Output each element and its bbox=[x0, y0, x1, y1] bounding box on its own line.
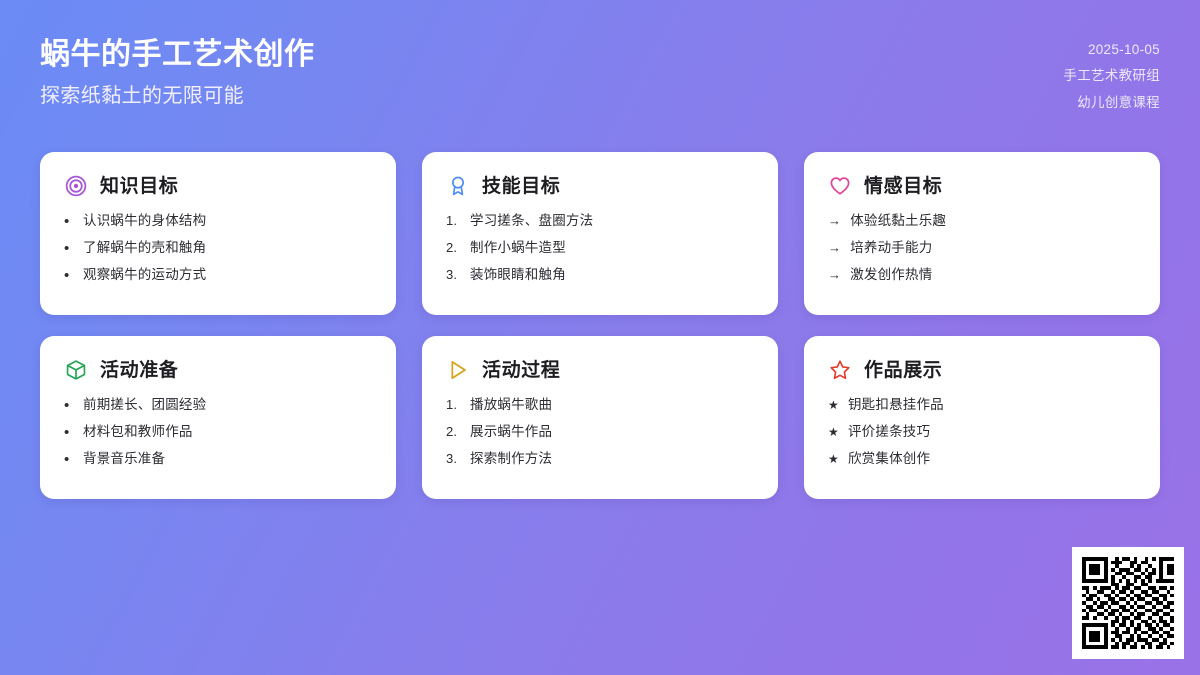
list-item-text: 背景音乐准备 bbox=[83, 450, 165, 468]
card-3: 情感目标→体验纸黏土乐趣→培养动手能力→激发创作热情 bbox=[804, 152, 1160, 315]
list-item-text: 体验纸黏土乐趣 bbox=[850, 212, 946, 230]
list-item: •前期搓长、团圆经验 bbox=[64, 396, 372, 414]
list-item: →体验纸黏土乐趣 bbox=[828, 212, 1136, 230]
list-marker: 3. bbox=[446, 266, 461, 284]
star-outline-icon bbox=[828, 358, 852, 382]
card-title: 情感目标 bbox=[864, 177, 942, 196]
list-marker: → bbox=[828, 239, 841, 257]
card-title: 活动准备 bbox=[100, 361, 178, 380]
card-list: ★钥匙扣悬挂作品★评价搓条技巧★欣赏集体创作 bbox=[828, 396, 1136, 469]
list-item-text: 展示蜗牛作品 bbox=[470, 423, 552, 441]
list-item-text: 培养动手能力 bbox=[850, 239, 932, 257]
list-item-text: 认识蜗牛的身体结构 bbox=[83, 212, 206, 230]
list-marker: ★ bbox=[828, 397, 839, 413]
list-item-text: 了解蜗牛的壳和触角 bbox=[83, 239, 206, 257]
card-grid: 知识目标•认识蜗牛的身体结构•了解蜗牛的壳和触角•观察蜗牛的运动方式 技能目标1… bbox=[40, 152, 1160, 499]
list-marker: • bbox=[64, 214, 74, 229]
list-item-text: 欣赏集体创作 bbox=[848, 450, 930, 468]
list-marker: • bbox=[64, 268, 74, 283]
card-list: →体验纸黏土乐趣→培养动手能力→激发创作热情 bbox=[828, 212, 1136, 285]
qr-code[interactable] bbox=[1072, 547, 1184, 659]
list-item: ★评价搓条技巧 bbox=[828, 423, 1136, 441]
list-item: •认识蜗牛的身体结构 bbox=[64, 212, 372, 230]
card-header: 技能目标 bbox=[446, 174, 754, 198]
list-item: •背景音乐准备 bbox=[64, 450, 372, 468]
award-medal-icon bbox=[446, 174, 470, 198]
list-item: 1.学习搓条、盘圈方法 bbox=[446, 212, 754, 230]
card-list: 1.学习搓条、盘圈方法2.制作小蜗牛造型3.装饰眼睛和触角 bbox=[446, 212, 754, 285]
list-item-text: 前期搓长、团圆经验 bbox=[83, 396, 206, 414]
list-item-text: 制作小蜗牛造型 bbox=[470, 239, 566, 257]
list-marker: • bbox=[64, 398, 74, 413]
page-header: 蜗牛的手工艺术创作 探索纸黏土的无限可能 2025-10-05 手工艺术教研组 … bbox=[0, 0, 1200, 140]
list-item: 2.展示蜗牛作品 bbox=[446, 423, 754, 441]
list-item: →激发创作热情 bbox=[828, 266, 1136, 284]
list-marker: • bbox=[64, 452, 74, 467]
card-list: 1.播放蜗牛歌曲2.展示蜗牛作品3.探索制作方法 bbox=[446, 396, 754, 469]
list-marker: • bbox=[64, 241, 74, 256]
list-item: 3.探索制作方法 bbox=[446, 450, 754, 468]
list-item-text: 学习搓条、盘圈方法 bbox=[470, 212, 593, 230]
card-2: 技能目标1.学习搓条、盘圈方法2.制作小蜗牛造型3.装饰眼睛和触角 bbox=[422, 152, 778, 315]
play-triangle-icon bbox=[446, 358, 470, 382]
list-marker: → bbox=[828, 212, 841, 230]
list-marker: ★ bbox=[828, 451, 839, 467]
card-list: •认识蜗牛的身体结构•了解蜗牛的壳和触角•观察蜗牛的运动方式 bbox=[64, 212, 372, 285]
card-header: 活动准备 bbox=[64, 358, 372, 382]
bullseye-icon bbox=[64, 174, 88, 198]
card-list: •前期搓长、团圆经验•材料包和教师作品•背景音乐准备 bbox=[64, 396, 372, 469]
meta-date: 2025-10-05 bbox=[1088, 42, 1160, 57]
list-item: ★欣赏集体创作 bbox=[828, 450, 1136, 468]
list-item-text: 激发创作热情 bbox=[850, 266, 932, 284]
list-item: 1.播放蜗牛歌曲 bbox=[446, 396, 754, 414]
list-item: ★钥匙扣悬挂作品 bbox=[828, 396, 1136, 414]
list-item: •材料包和教师作品 bbox=[64, 423, 372, 441]
card-title: 作品展示 bbox=[864, 361, 942, 380]
meta-department: 手工艺术教研组 bbox=[1063, 64, 1160, 84]
list-item: →培养动手能力 bbox=[828, 239, 1136, 257]
card-5: 活动过程1.播放蜗牛歌曲2.展示蜗牛作品3.探索制作方法 bbox=[422, 336, 778, 499]
list-item: 3.装饰眼睛和触角 bbox=[446, 266, 754, 284]
card-header: 活动过程 bbox=[446, 358, 754, 382]
list-item-text: 探索制作方法 bbox=[470, 450, 552, 468]
list-marker: → bbox=[828, 266, 841, 284]
qr-code-matrix bbox=[1082, 557, 1174, 649]
list-item-text: 评价搓条技巧 bbox=[848, 423, 930, 441]
card-header: 情感目标 bbox=[828, 174, 1136, 198]
list-item-text: 观察蜗牛的运动方式 bbox=[83, 266, 206, 284]
list-marker: ★ bbox=[828, 424, 839, 440]
card-title: 知识目标 bbox=[100, 177, 178, 196]
list-item-text: 播放蜗牛歌曲 bbox=[470, 396, 552, 414]
card-1: 知识目标•认识蜗牛的身体结构•了解蜗牛的壳和触角•观察蜗牛的运动方式 bbox=[40, 152, 396, 315]
header-meta-block: 2025-10-05 手工艺术教研组 幼儿创意课程 bbox=[1063, 36, 1160, 111]
page-title: 蜗牛的手工艺术创作 bbox=[40, 36, 315, 74]
qr-module bbox=[1170, 645, 1174, 649]
list-item: 2.制作小蜗牛造型 bbox=[446, 239, 754, 257]
heart-icon bbox=[828, 174, 852, 198]
card-header: 作品展示 bbox=[828, 358, 1136, 382]
card-6: 作品展示★钥匙扣悬挂作品★评价搓条技巧★欣赏集体创作 bbox=[804, 336, 1160, 499]
list-marker: 2. bbox=[446, 239, 461, 257]
list-item-text: 材料包和教师作品 bbox=[83, 423, 193, 441]
list-marker: 3. bbox=[446, 450, 461, 468]
page-subtitle: 探索纸黏土的无限可能 bbox=[40, 83, 315, 109]
card-4: 活动准备•前期搓长、团圆经验•材料包和教师作品•背景音乐准备 bbox=[40, 336, 396, 499]
list-item: •观察蜗牛的运动方式 bbox=[64, 266, 372, 284]
list-item-text: 装饰眼睛和触角 bbox=[470, 266, 566, 284]
list-item-text: 钥匙扣悬挂作品 bbox=[848, 396, 944, 414]
package-box-icon bbox=[64, 358, 88, 382]
list-marker: • bbox=[64, 425, 74, 440]
header-title-block: 蜗牛的手工艺术创作 探索纸黏土的无限可能 bbox=[40, 36, 315, 109]
list-item: •了解蜗牛的壳和触角 bbox=[64, 239, 372, 257]
card-title: 活动过程 bbox=[482, 361, 560, 380]
meta-course: 幼儿创意课程 bbox=[1077, 91, 1160, 111]
list-marker: 1. bbox=[446, 212, 461, 230]
list-marker: 2. bbox=[446, 423, 461, 441]
list-marker: 1. bbox=[446, 396, 461, 414]
card-header: 知识目标 bbox=[64, 174, 372, 198]
card-title: 技能目标 bbox=[482, 177, 560, 196]
